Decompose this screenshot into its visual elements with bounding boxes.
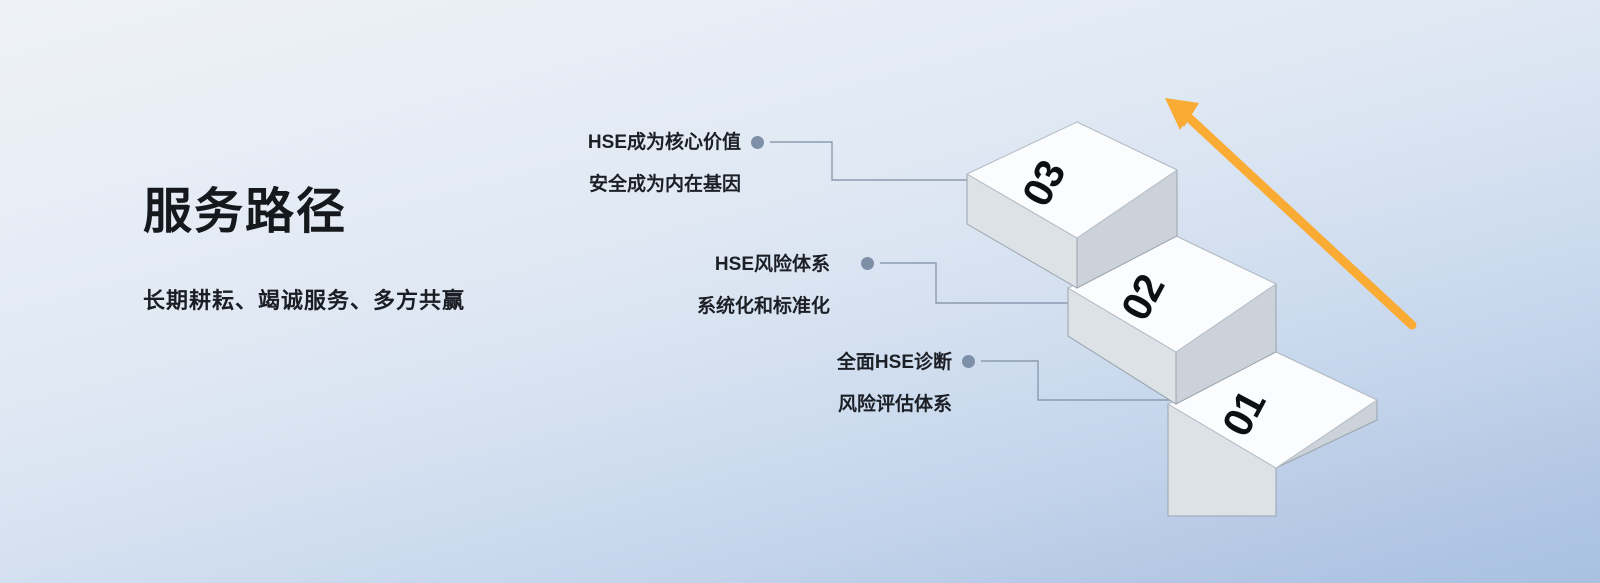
upward-growth-arrow-icon [1165,98,1412,325]
callout-step-2-line1: HSE风险体系 [0,255,830,274]
callout-dot-step-3 [751,136,764,149]
callout-step-1-line1: 全面HSE诊断 [0,353,952,372]
callout-step-3-line1: HSE成为核心价值 [0,133,741,152]
callout-step-2-line2: 系统化和标准化 [0,297,830,316]
service-path-slide: 服务路径 长期耕耘、竭诚服务、多方共赢 01 02 [0,0,1600,583]
callout-step-3-line2: 安全成为内在基因 [0,175,741,194]
callout-step-3: HSE成为核心价值 安全成为内在基因 [0,133,741,194]
callout-dot-step-2 [861,257,874,270]
callout-step-1-line2: 风险评估体系 [0,395,952,414]
callout-dot-step-1 [962,355,975,368]
callout-step-1: 全面HSE诊断 风险评估体系 [0,353,952,414]
callout-step-2: HSE风险体系 系统化和标准化 [0,255,830,316]
